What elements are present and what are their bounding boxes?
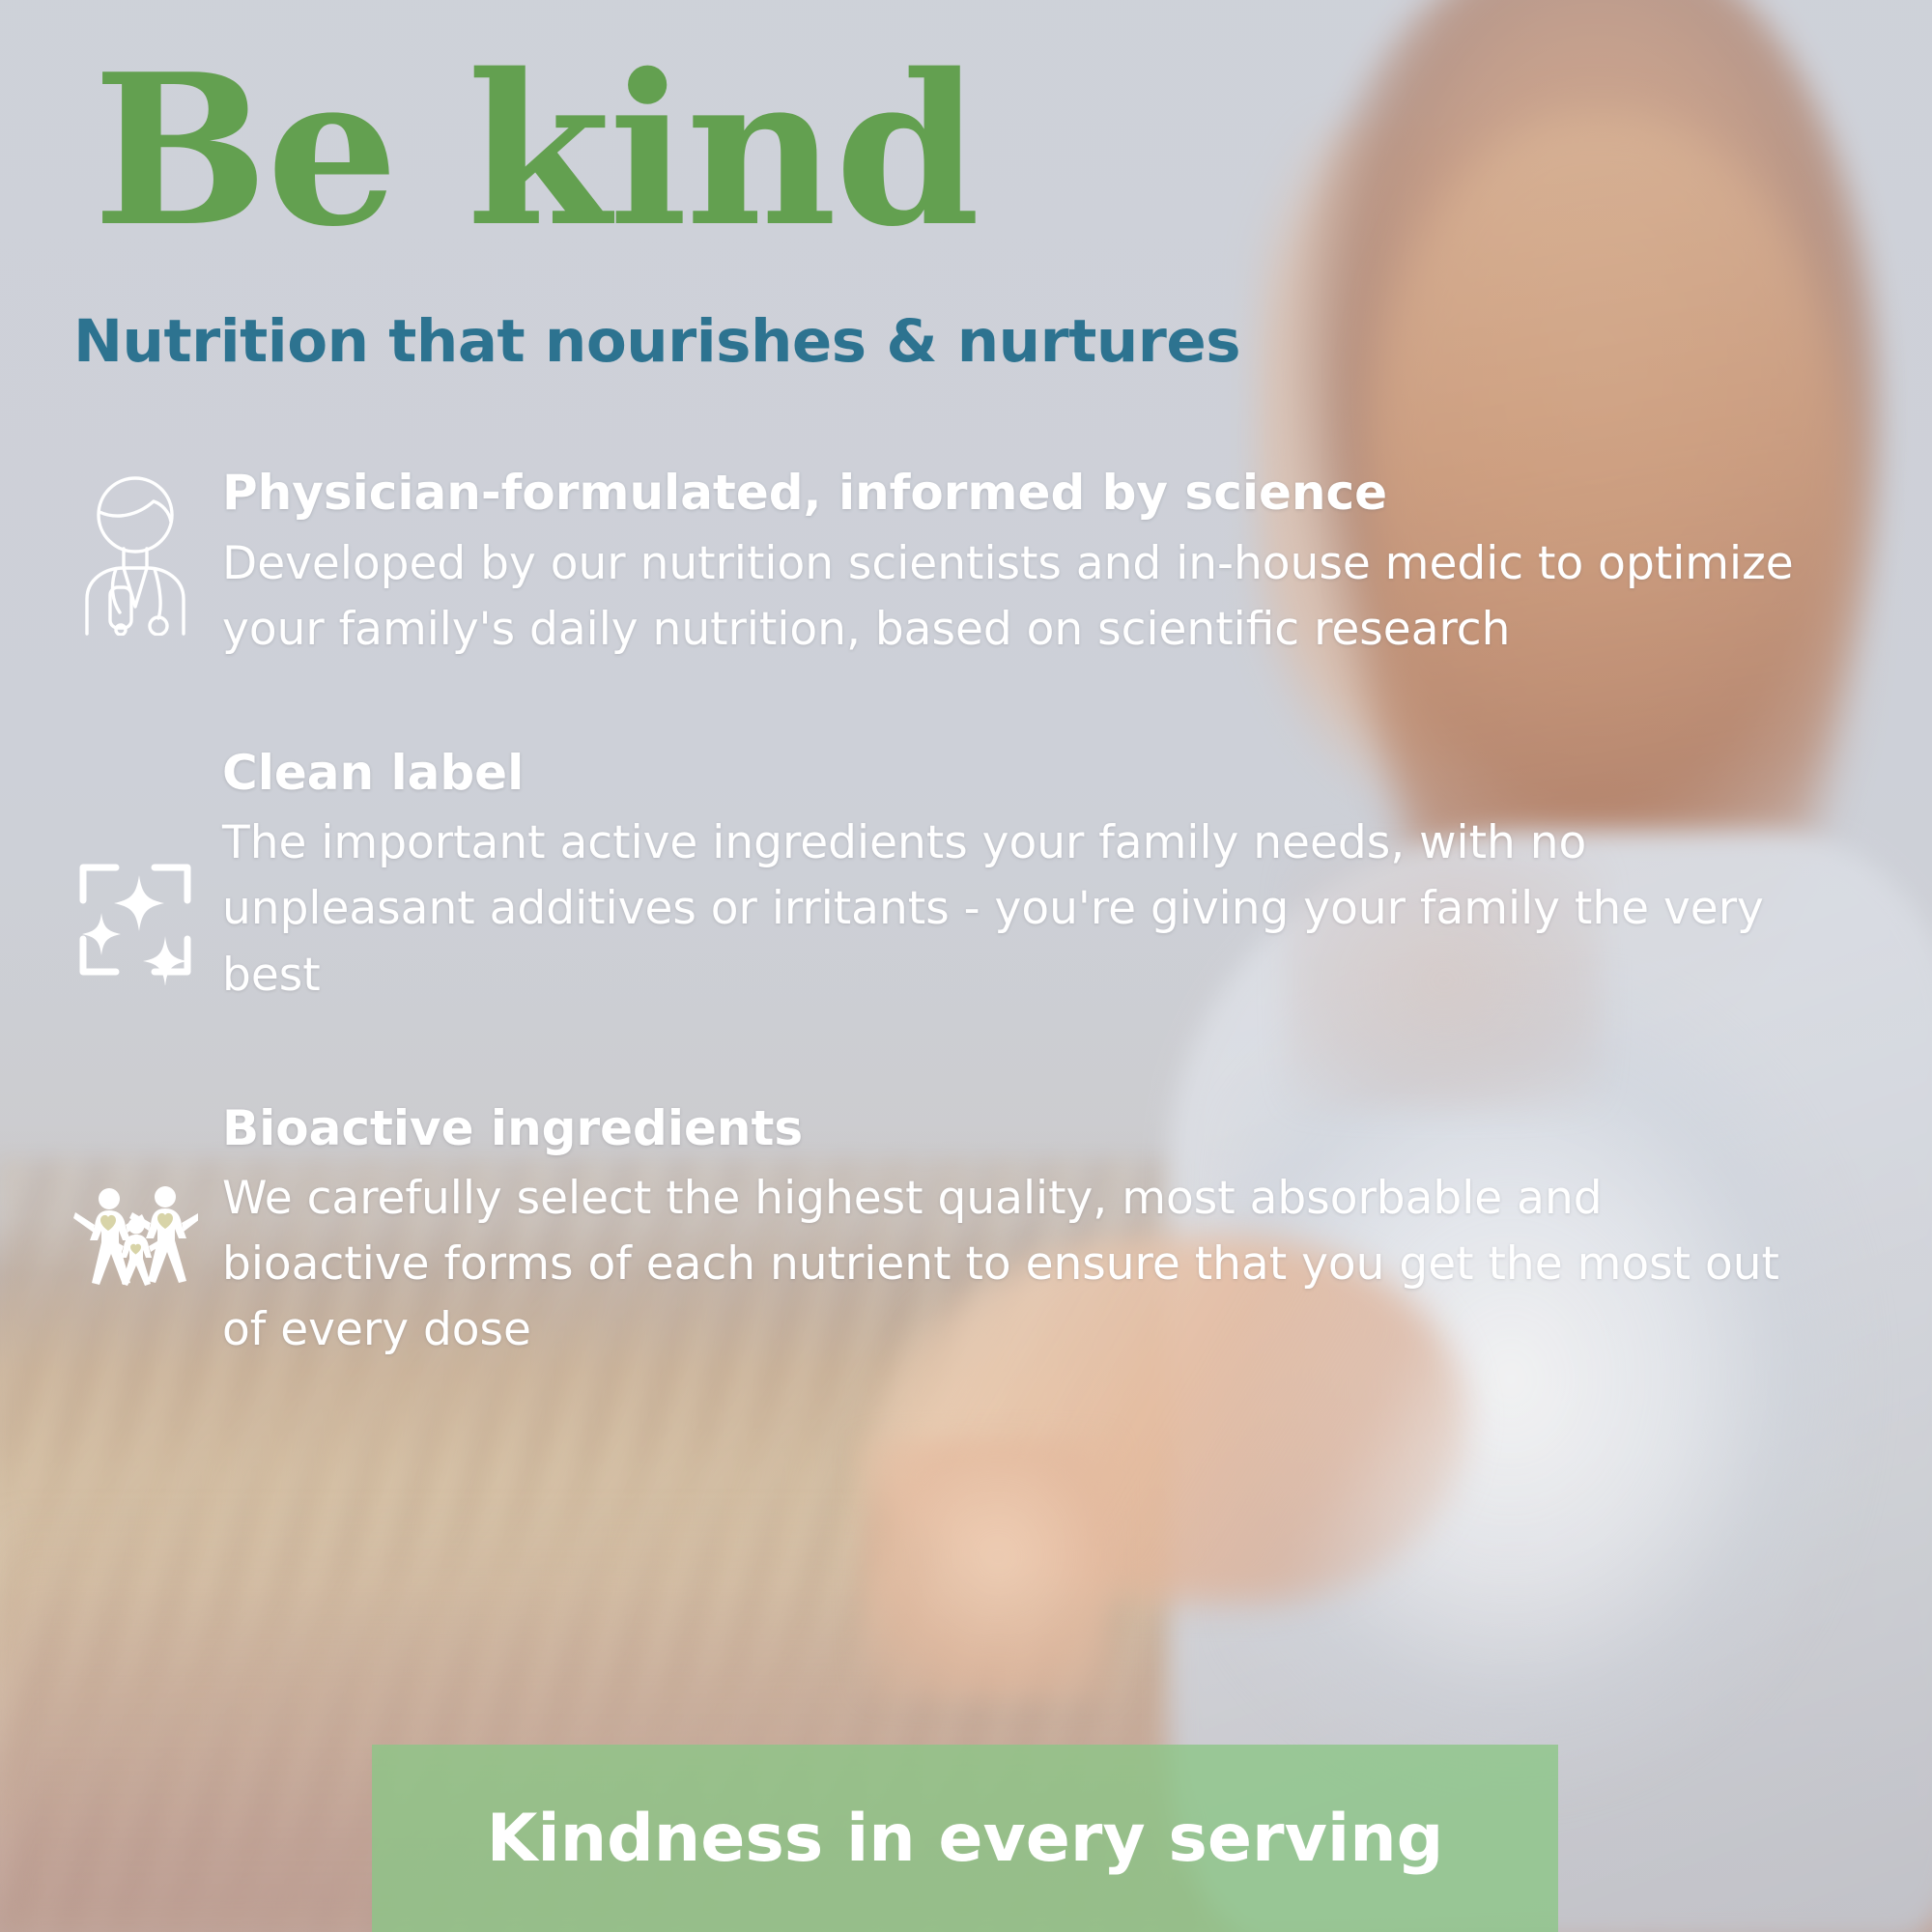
feature-text-block: Bioactive ingredients We carefully selec… bbox=[213, 1101, 1826, 1364]
page-title: Be kind bbox=[93, 46, 979, 254]
poster-canvas: Be kind Nutrition that nourishes & nurtu… bbox=[0, 0, 1932, 1932]
family-hearts-icon bbox=[58, 1101, 213, 1289]
doctor-icon bbox=[58, 466, 213, 636]
feature-item-physician-formulated: Physician-formulated, informed by scienc… bbox=[58, 466, 1826, 663]
page-subtitle: Nutrition that nourishes & nurtures bbox=[73, 307, 1240, 376]
feature-body: The important active ingredients your fa… bbox=[222, 810, 1816, 1008]
feature-body: Developed by our nutrition scientists an… bbox=[222, 531, 1816, 663]
feature-text-block: Clean label The important active ingredi… bbox=[213, 746, 1826, 1009]
tagline-banner: Kindness in every serving bbox=[372, 1745, 1558, 1932]
feature-text-block: Physician-formulated, informed by scienc… bbox=[213, 466, 1826, 663]
feature-list: Physician-formulated, informed by scienc… bbox=[58, 466, 1826, 1447]
feature-title: Bioactive ingredients bbox=[222, 1101, 1826, 1157]
tagline-text: Kindness in every serving bbox=[487, 1801, 1444, 1877]
feature-title: Clean label bbox=[222, 746, 1826, 802]
feature-title: Physician-formulated, informed by scienc… bbox=[222, 466, 1826, 522]
feature-item-clean-label: Clean label The important active ingredi… bbox=[58, 746, 1826, 1009]
feature-body: We carefully select the highest quality,… bbox=[222, 1166, 1816, 1363]
sparkle-frame-icon bbox=[58, 746, 213, 985]
feature-item-bioactive-ingredients: Bioactive ingredients We carefully selec… bbox=[58, 1101, 1826, 1364]
